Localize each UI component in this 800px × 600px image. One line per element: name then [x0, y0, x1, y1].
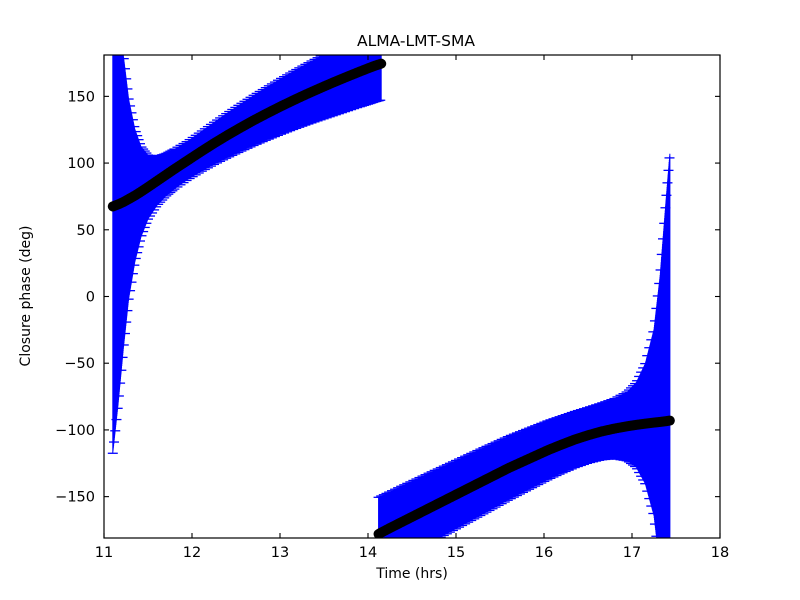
closure-phase-plot: 1112131415161718 −150−100−50050100150 AL…	[0, 0, 800, 600]
y-tick-label: 100	[67, 156, 95, 172]
y-tick-label: −50	[64, 356, 95, 372]
x-tick-label: 15	[447, 545, 465, 561]
y-tick-label: −100	[55, 423, 95, 439]
y-tick-label: 50	[77, 223, 95, 239]
data-point-marker	[377, 59, 386, 68]
data-point-marker	[665, 416, 674, 425]
x-tick-label: 16	[535, 545, 553, 561]
y-axis-label: Closure phase (deg)	[18, 226, 34, 367]
y-tick-label: −150	[55, 490, 95, 506]
y-tick-label: 0	[86, 290, 95, 306]
x-tick-label: 12	[183, 545, 201, 561]
x-tick-label: 13	[271, 545, 289, 561]
x-tick-label: 11	[95, 545, 113, 561]
chart-title: ALMA-LMT-SMA	[357, 32, 475, 50]
x-axis-label: Time (hrs)	[375, 566, 448, 582]
y-tick-label: 150	[67, 89, 95, 105]
x-tick-label: 14	[359, 545, 377, 561]
figure-canvas: 1112131415161718 −150−100−50050100150 AL…	[0, 0, 800, 600]
x-tick-label: 17	[623, 545, 641, 561]
x-tick-label: 18	[711, 545, 729, 561]
